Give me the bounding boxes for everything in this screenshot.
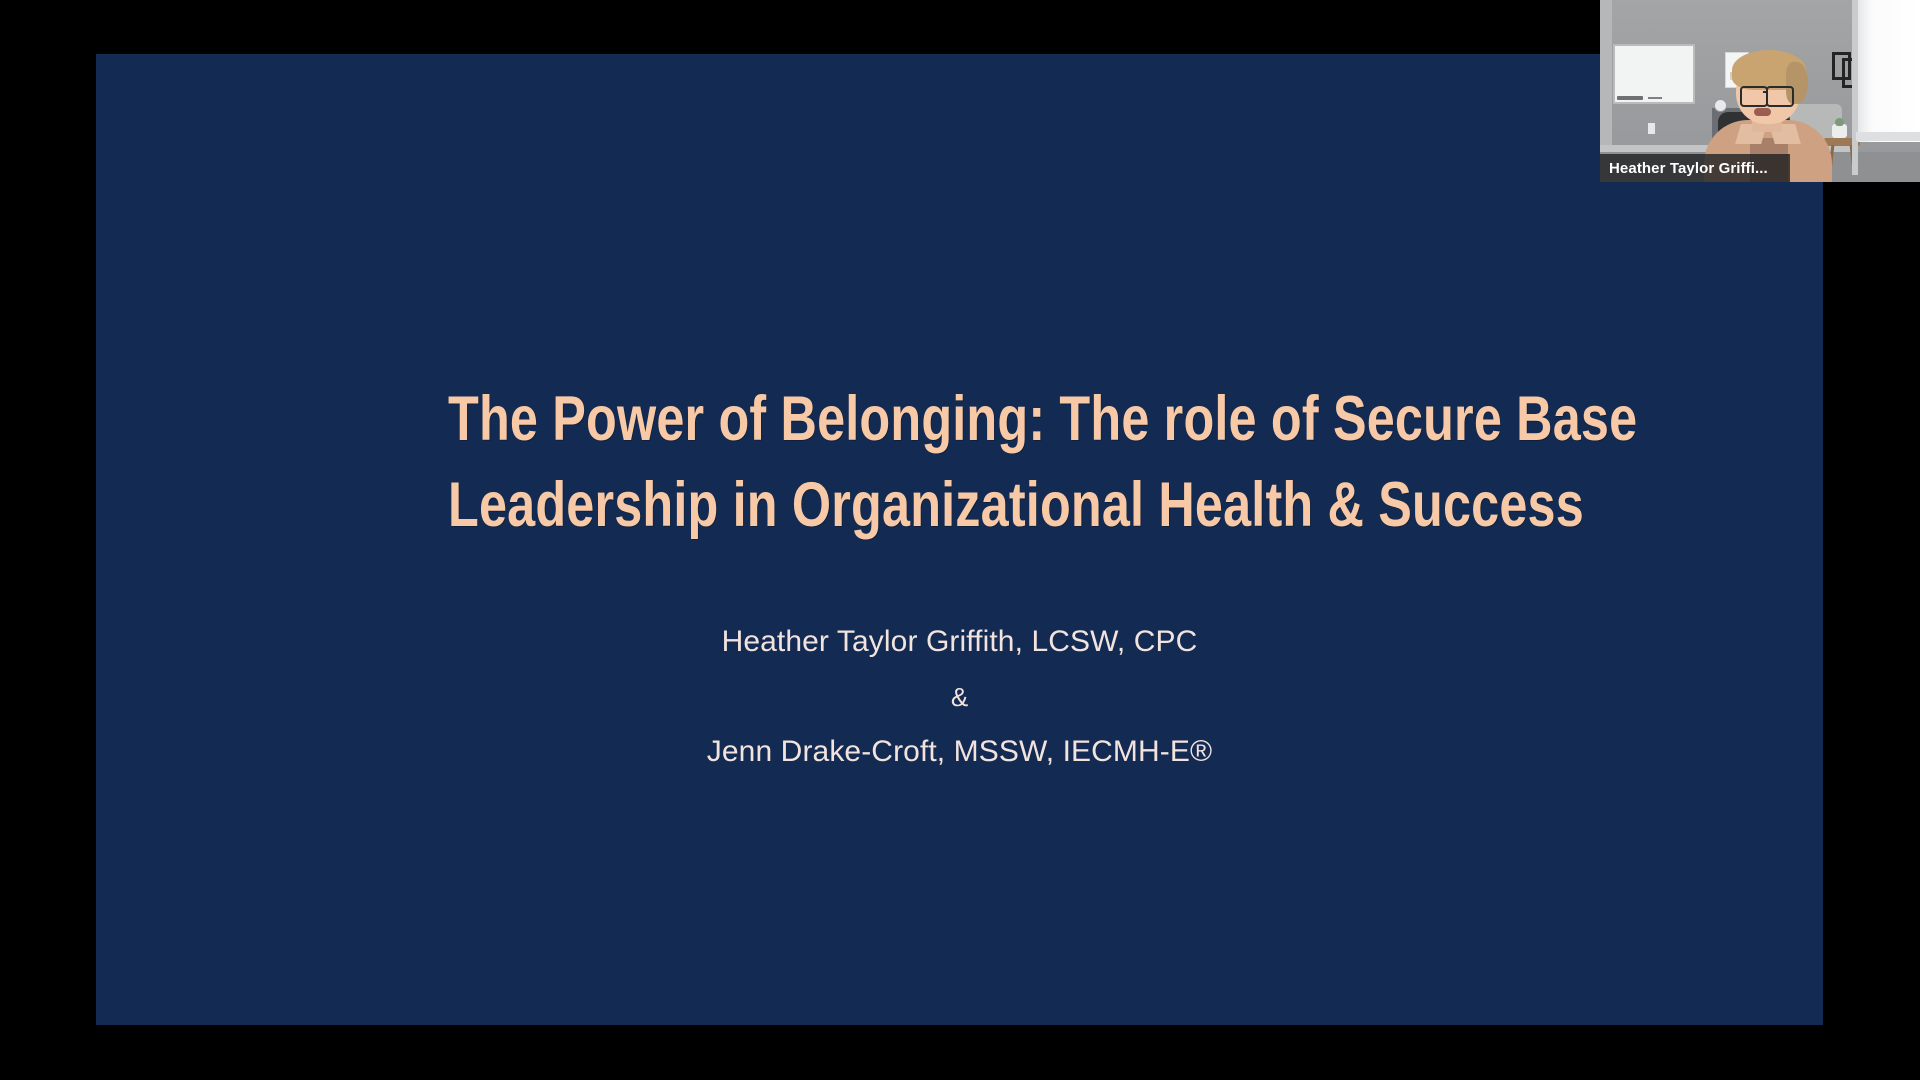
- slide-title: The Power of Belonging: The role of Secu…: [320, 376, 1600, 548]
- eyeglasses-left-lens: [1740, 86, 1768, 107]
- whiteboard: [1613, 44, 1695, 104]
- potted-plant: [1835, 118, 1844, 126]
- screen-share-stage: The Power of Belonging: The role of Secu…: [0, 0, 1920, 1080]
- window-frame: [1852, 0, 1858, 175]
- whiteboard-marker: [1648, 97, 1662, 99]
- letterbox-bottom: [0, 1025, 1920, 1080]
- window: [1856, 0, 1920, 142]
- participant-video-tile[interactable]: Heather Taylor Griffi...: [1600, 0, 1920, 182]
- slide-content: The Power of Belonging: The role of Secu…: [96, 54, 1823, 1025]
- slide-title-line-1: The Power of Belonging: The role of Secu…: [448, 376, 1472, 462]
- whiteboard-eraser: [1617, 96, 1643, 100]
- participant-mouth: [1754, 108, 1771, 116]
- presentation-slide[interactable]: The Power of Belonging: The role of Secu…: [96, 54, 1823, 1025]
- letterbox-top: [0, 0, 1600, 54]
- desk-clock: [1714, 99, 1727, 112]
- eyeglasses-right-lens: [1766, 86, 1794, 107]
- window-sill: [1856, 132, 1920, 141]
- presenter-list: Heather Taylor Griffith, LCSW, CPC & Jen…: [707, 614, 1212, 780]
- wall-outlet: [1648, 123, 1655, 134]
- slide-title-line-2: Leadership in Organizational Health & Su…: [448, 462, 1472, 548]
- letterbox-right: [1823, 182, 1920, 1080]
- eyeglasses-bridge: [1763, 91, 1768, 93]
- presenter-name-secondary: Jenn Drake-Croft, MSSW, IECMH-E®: [707, 724, 1212, 780]
- planter: [1832, 124, 1847, 138]
- presenter-name-primary: Heather Taylor Griffith, LCSW, CPC: [722, 614, 1198, 670]
- letterbox-left: [0, 0, 96, 1080]
- participant-name-text: Heather Taylor Griffi...: [1609, 160, 1768, 177]
- presenter-conjunction: &: [951, 670, 968, 724]
- participant-name-label: Heather Taylor Griffi...: [1600, 154, 1790, 182]
